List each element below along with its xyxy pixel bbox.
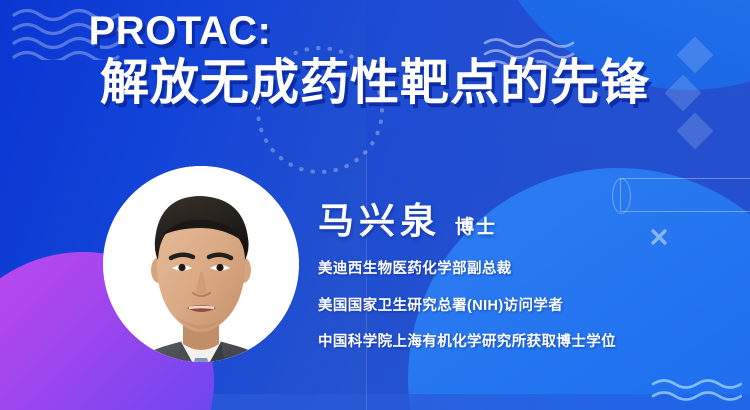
credential-item: 中国科学院上海有机化学研究所获取博士学位: [318, 335, 718, 350]
seminar-banner: PROTAC: 解放无成药性靶点的先锋: [0, 0, 750, 410]
speaker-portrait: [103, 166, 299, 410]
banner-headline: PROTAC: 解放无成药性靶点的先锋: [0, 0, 750, 113]
credential-item: 美迪西生物医药化学部副总裁: [318, 262, 718, 277]
credential-item: 美国国家卫生研究总署(NIH)访问学者: [318, 299, 718, 314]
speaker-name: 马兴泉: [318, 192, 441, 244]
headline-title-cn: 解放无成药性靶点的先锋: [0, 55, 750, 113]
speaker-photo: [103, 166, 299, 362]
speaker-credentials: 美迪西生物医药化学部副总裁 美国国家卫生研究总署(NIH)访问学者 中国科学院上…: [318, 262, 718, 350]
speaker-degree: 博士: [455, 212, 497, 239]
portrait-circle-frame: [103, 166, 299, 362]
wave-lines-icon: [650, 376, 742, 406]
headline-title-en: PROTAC:: [0, 10, 750, 53]
speaker-name-line: 马兴泉 博士: [318, 192, 718, 244]
speaker-info: 马兴泉 博士 美迪西生物医药化学部副总裁 美国国家卫生研究总署(NIH)访问学者…: [318, 192, 718, 350]
